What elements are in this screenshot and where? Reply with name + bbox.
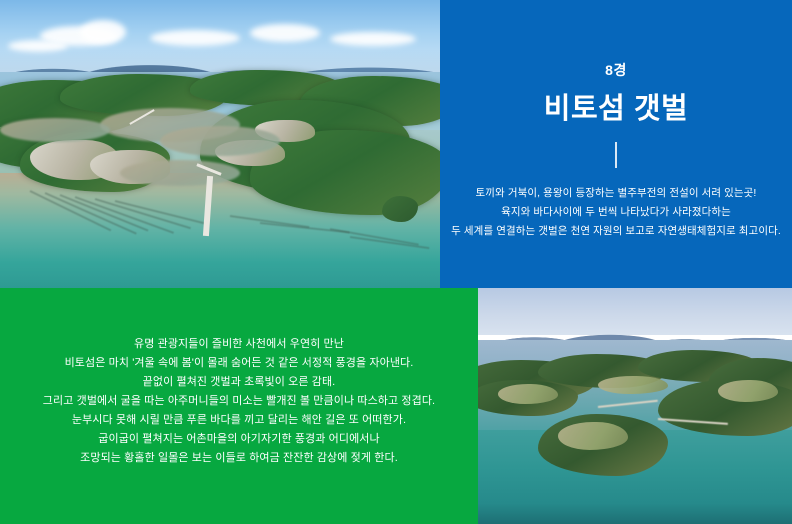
blue-description-line: 두 세계를 연결하는 갯벌은 천연 자원의 보고로 자연생태체험지로 최고이다. bbox=[440, 222, 792, 241]
green-panel-description: 유명 관광지들이 즐비한 사천에서 우연히 만난 비토섬은 마치 '겨울 속에 … bbox=[0, 288, 478, 468]
mudflat-patch bbox=[598, 376, 668, 394]
green-description-line: 눈부시다 못해 시릴 만큼 푸른 바다를 끼고 달리는 해안 길은 또 어떠한가… bbox=[0, 411, 478, 430]
aerial-photo-bottom-right-scene bbox=[478, 288, 792, 524]
mudflat-patch bbox=[120, 160, 240, 186]
blue-description-line: 육지와 바다사이에 두 번씩 나타났다가 사라졌다하는 bbox=[440, 203, 792, 222]
cloud-shape bbox=[250, 24, 320, 42]
mudflat-patch bbox=[160, 126, 280, 156]
farm-field bbox=[498, 384, 558, 404]
blue-text-panel: 8경 비토섬 갯벌 토끼와 거북이, 용왕이 등장하는 별주부전의 전설이 서려… bbox=[440, 0, 792, 288]
green-description-line: 조망되는 황홀한 일몰은 보는 이들로 하여금 잔잔한 감상에 젖게 한다. bbox=[0, 449, 478, 468]
scene-number-kicker: 8경 bbox=[440, 0, 792, 79]
bottom-row: 유명 관광지들이 즐비한 사천에서 우연히 만난 비토섬은 마치 '겨울 속에 … bbox=[0, 288, 792, 524]
green-text-panel: 유명 관광지들이 즐비한 사천에서 우연히 만난 비토섬은 마치 '겨울 속에 … bbox=[0, 288, 478, 524]
green-description-line: 끝없이 펼쳐진 갯벌과 초록빛이 오른 감태. bbox=[0, 373, 478, 392]
top-row: 8경 비토섬 갯벌 토끼와 거북이, 용왕이 등장하는 별주부전의 전설이 서려… bbox=[0, 0, 792, 288]
aerial-photo-top-left-scene bbox=[0, 0, 440, 288]
green-description-line: 굽이굽이 펼쳐지는 어촌마을의 아기자기한 풍경과 어디에서나 bbox=[0, 430, 478, 449]
blue-description-line: 토끼와 거북이, 용왕이 등장하는 별주부전의 전설이 서려 있는곳! bbox=[440, 184, 792, 203]
page-title: 비토섬 갯벌 bbox=[440, 79, 792, 126]
title-divider bbox=[615, 142, 617, 168]
cloud-shape bbox=[80, 20, 126, 44]
green-description-line: 비토섬은 마치 '겨울 속에 봄'이 몰래 숨어든 것 같은 서정적 풍경을 자… bbox=[0, 354, 478, 373]
farm-field bbox=[718, 380, 778, 402]
green-description-line: 그리고 갯벌에서 굴을 따는 아주머니들의 미소는 빨개진 볼 만큼이나 따스하… bbox=[0, 392, 478, 411]
aerial-photo-bottom-right bbox=[478, 288, 792, 524]
page-root: 8경 비토섬 갯벌 토끼와 거북이, 용왕이 등장하는 별주부전의 전설이 서려… bbox=[0, 0, 792, 524]
aerial-photo-top-left bbox=[0, 0, 440, 288]
cloud-shape bbox=[150, 30, 240, 46]
cloud-shape bbox=[330, 32, 416, 46]
green-description-line: 유명 관광지들이 즐비한 사천에서 우연히 만난 bbox=[0, 335, 478, 354]
blue-panel-description: 토끼와 거북이, 용왕이 등장하는 별주부전의 전설이 서려 있는곳! 육지와 … bbox=[440, 168, 792, 241]
farm-field bbox=[558, 422, 628, 450]
mudflat-patch bbox=[0, 118, 110, 142]
